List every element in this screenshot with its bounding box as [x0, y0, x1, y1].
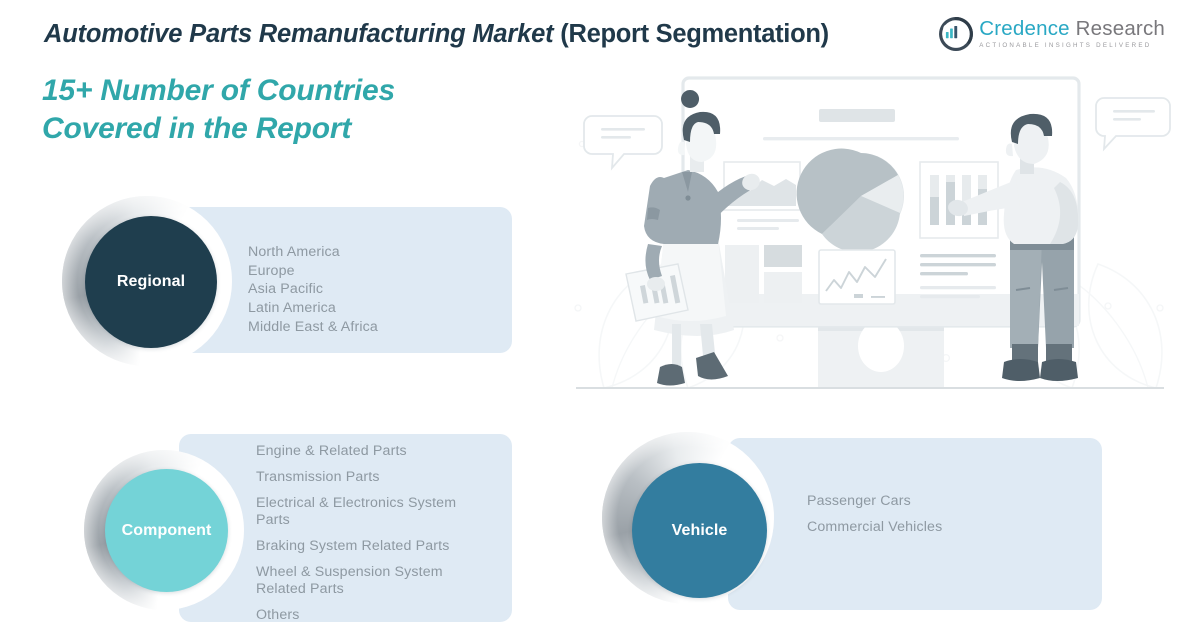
segment-card-vehicle: Vehicle Passenger Cars Commercial Vehicl…	[602, 428, 1102, 624]
page-title-segment: (Report Segmentation)	[560, 20, 829, 48]
bar-chart-circle-icon	[939, 17, 973, 51]
segment-list-vehicle: Passenger Cars Commercial Vehicles	[807, 494, 1067, 546]
list-item: Transmission Parts	[256, 469, 486, 486]
logo-text: Credence Research Actionable Insights De…	[979, 19, 1165, 49]
list-item: Wheel & Suspension System Related Parts	[256, 564, 486, 599]
page-title-main: Automotive Parts Remanufacturing Market	[44, 20, 560, 48]
list-item: Passenger Cars	[807, 494, 1067, 508]
logo-brand-primary: Credence	[979, 17, 1070, 40]
line-chart	[819, 250, 895, 304]
logo-brand-secondary: Research	[1070, 17, 1165, 40]
segment-circle-regional[interactable]: Regional	[85, 216, 217, 348]
list-item: Engine & Related Parts	[256, 443, 486, 460]
logo-brand: Credence Research	[979, 19, 1165, 40]
segment-label-component: Component	[122, 523, 212, 539]
list-item: Middle East & Africa	[248, 318, 488, 337]
list-item: Asia Pacific	[248, 280, 488, 299]
two-people-presenting-dashboard-illustration	[568, 58, 1191, 418]
segment-circle-vehicle[interactable]: Vehicle	[632, 463, 767, 598]
segment-circle-component[interactable]: Component	[105, 469, 228, 592]
header: Automotive Parts Remanufacturing Market …	[0, 0, 1191, 62]
list-item: Europe	[248, 262, 488, 281]
list-item: Others	[256, 607, 486, 624]
logo-tagline: Actionable Insights Delivered	[979, 43, 1165, 49]
segment-label-regional: Regional	[117, 274, 185, 290]
list-item: Latin America	[248, 299, 488, 318]
speech-bubble-left	[584, 116, 662, 168]
list-item: Braking System Related Parts	[256, 538, 486, 555]
segment-card-component: Component Engine & Related Parts Transmi…	[62, 424, 512, 632]
slide-canvas: Automotive Parts Remanufacturing Market …	[0, 0, 1191, 638]
list-item: Commercial Vehicles	[807, 520, 1067, 534]
monitor-stand	[818, 320, 944, 388]
subtitle-heading: 15+ Number of Countries Covered in the R…	[42, 72, 512, 149]
page-title: Automotive Parts Remanufacturing Market …	[44, 20, 829, 49]
segment-list-regional: North America Europe Asia Pacific Latin …	[248, 243, 488, 337]
brand-logo[interactable]: Credence Research Actionable Insights De…	[939, 17, 1165, 51]
segment-label-vehicle: Vehicle	[672, 523, 728, 539]
speech-bubble-right	[1096, 98, 1170, 149]
segment-list-component: Engine & Related Parts Transmission Part…	[256, 443, 486, 633]
list-item: Electrical & Electronics System Parts	[256, 495, 486, 530]
list-item: North America	[248, 243, 488, 262]
segment-card-regional: Regional North America Europe Asia Pacif…	[62, 196, 512, 366]
